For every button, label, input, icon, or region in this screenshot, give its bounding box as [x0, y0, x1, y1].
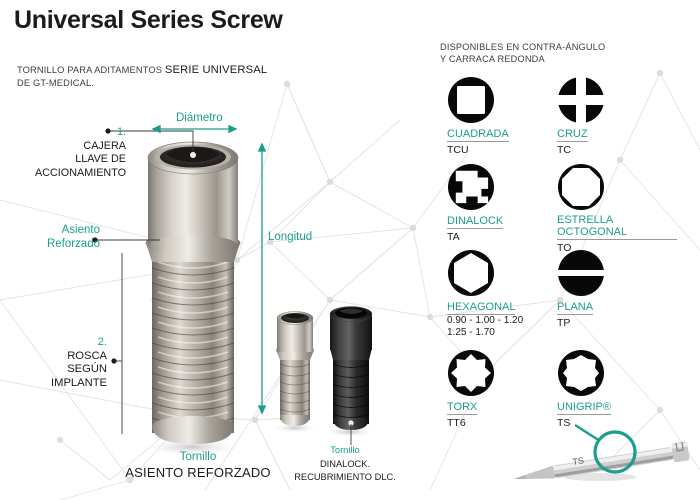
driver-name: TORX: [447, 401, 477, 415]
callout-seat: Asiento Reforzado: [18, 224, 100, 251]
driver-code: TT6: [447, 417, 567, 429]
driver-name: PLANA: [557, 301, 593, 315]
driver-item-dinalock[interactable]: DINALOCK TA: [447, 163, 567, 243]
caption-dlc-line3: RECUBRIMIENTO DLC.: [294, 472, 396, 482]
callout-one-line1: CAJERA: [83, 140, 126, 152]
caption-screw-main: Tornillo ASIENTO REFORZADO: [118, 448, 278, 481]
driver-name: CUADRADA: [447, 128, 509, 142]
callout-seat-line1: Asiento: [62, 224, 100, 236]
driver-code: TC: [557, 144, 677, 156]
drivers-heading: DISPONIBLES EN CONTRA-ÁNGULO Y CARRACA R…: [440, 42, 605, 65]
driver-name: DINALOCK: [447, 215, 503, 229]
driver-code: TCU: [447, 144, 567, 156]
driver-item-hexagonal[interactable]: HEXAGONAL 0.90 - 1.00 - 1.20 1.25 - 1.70: [447, 249, 567, 339]
caption-main-top: Tornillo: [180, 451, 216, 463]
drivers-heading-line2: Y CARRACA REDONDA: [440, 54, 545, 64]
cross-socket-icon: [557, 76, 605, 124]
square-socket-icon: [447, 76, 495, 124]
callout-one-line2: LLAVE DE: [75, 153, 126, 165]
driver-item-cuadrada[interactable]: CUADRADA TCU: [447, 76, 567, 156]
callout-two-number: 2.: [98, 336, 107, 348]
driver-code: TS: [557, 417, 677, 429]
screw-small-dlc-graphic: [324, 307, 376, 438]
driver-name: CRUZ: [557, 128, 588, 142]
callout-thread: 2. ROSCA SEGÚN IMPLANTE: [10, 336, 107, 390]
callout-one-line3: ACCIONAMIENTO: [35, 167, 126, 179]
callout-seat-line2: Reforzado: [47, 238, 100, 250]
screw-small-steel-graphic: [271, 312, 319, 434]
driver-name: UNIGRIP®: [557, 401, 611, 415]
driver-code: TP: [557, 317, 677, 329]
screwdriver-tool-graphic: TS: [512, 425, 690, 488]
caption-dlc-line2: DINALOCK.: [320, 459, 370, 469]
tool-marking-label: TS: [572, 455, 585, 467]
driver-item-torx[interactable]: TORX TT6: [447, 349, 567, 429]
octagon-socket-icon: [557, 163, 605, 211]
caption-dlc-top: Tornillo: [330, 445, 359, 455]
callout-two-line3: IMPLANTE: [51, 377, 107, 389]
flat-slot-socket-icon: [557, 249, 605, 297]
callout-two-line1: ROSCA: [67, 350, 107, 362]
hexagon-socket-icon: [447, 249, 495, 297]
driver-item-unigrip[interactable]: UNIGRIP® TS: [557, 349, 677, 429]
driver-sizes: 0.90 - 1.00 - 1.20 1.25 - 1.70: [447, 315, 567, 339]
driver-item-estrella-octogonal[interactable]: ESTRELLA OCTOGONAL TO: [557, 163, 677, 254]
driver-name: ESTRELLA OCTOGONAL: [557, 214, 677, 240]
torx-socket-icon: [447, 349, 495, 397]
caption-main-bottom: ASIENTO REFORZADO: [125, 465, 270, 480]
callout-socket: 1. CAJERA LLAVE DE ACCIONAMIENTO: [18, 126, 126, 180]
caption-screw-dlc: Tornillo DINALOCK. RECUBRIMIENTO DLC.: [285, 443, 405, 484]
driver-code: TA: [447, 231, 567, 243]
callout-two-line2: SEGÚN: [67, 363, 107, 375]
driver-item-plana[interactable]: PLANA TP: [557, 249, 677, 329]
length-label: Longitud: [268, 231, 312, 243]
poster-root: Universal Series Screw TORNILLO PARA ADI…: [0, 0, 700, 500]
unigrip-socket-icon: [557, 349, 605, 397]
driver-item-cruz[interactable]: CRUZ TC: [557, 76, 677, 156]
driver-name: HEXAGONAL: [447, 301, 515, 315]
diameter-label: Diámetro: [176, 112, 223, 124]
dinalock-socket-icon: [447, 163, 495, 211]
callout-one-number: 1.: [117, 126, 126, 138]
screw-main-graphic: [140, 142, 244, 456]
drivers-heading-line1: DISPONIBLES EN CONTRA-ÁNGULO: [440, 42, 605, 52]
